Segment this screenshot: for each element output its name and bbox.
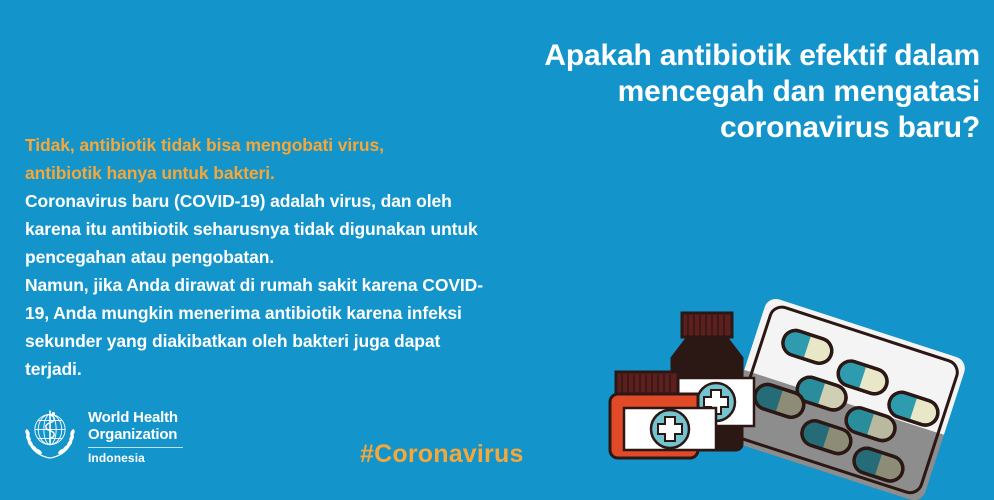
body-line-5: 19, Anda mungkin menerima antibiotik kar… — [25, 299, 625, 327]
medicine-illustration-svg — [596, 296, 994, 500]
body-line-6: sekunder yang diakibatkan oleh bakteri j… — [25, 327, 625, 355]
lead-line-1: Tidak, antibiotik tidak bisa mengobati v… — [25, 131, 625, 159]
blister-pill-pack — [719, 296, 969, 500]
lead-line-2: antibiotik hanya untuk bakteri. — [25, 159, 625, 187]
medicine-illustration — [596, 296, 994, 500]
who-name-line-1: World Health — [88, 409, 183, 426]
body-copy: Tidak, antibiotik tidak bisa mengobati v… — [25, 131, 625, 383]
body-line-3: pencegahan atau pengobatan. — [25, 243, 625, 271]
who-name-line-2: Organization — [88, 426, 183, 443]
who-divider — [88, 447, 183, 448]
who-logo: World Health Organization Indonesia — [22, 406, 183, 465]
who-wordmark: World Health Organization Indonesia — [88, 406, 183, 465]
body-line-4: Namun, jika Anda dirawat di rumah sakit … — [25, 271, 625, 299]
body-line-1: Coronavirus baru (COVID-19) adalah virus… — [25, 187, 625, 215]
who-country-label: Indonesia — [88, 451, 183, 465]
who-emblem-icon — [22, 406, 78, 462]
poster-canvas: Apakah antibiotik efektif dalam mencegah… — [0, 0, 994, 500]
headline-line-1: Apakah antibiotik efektif dalam — [340, 38, 980, 74]
cross-badge — [651, 410, 689, 448]
body-line-2: karena itu antibiotik seharusnya tidak d… — [25, 215, 625, 243]
page-title: Apakah antibiotik efektif dalam mencegah… — [340, 38, 980, 146]
headline-line-2: mencegah dan mengatasi — [340, 74, 980, 110]
body-line-7: terjadi. — [25, 355, 625, 383]
hashtag-coronavirus: #Coronavirus — [360, 440, 524, 469]
